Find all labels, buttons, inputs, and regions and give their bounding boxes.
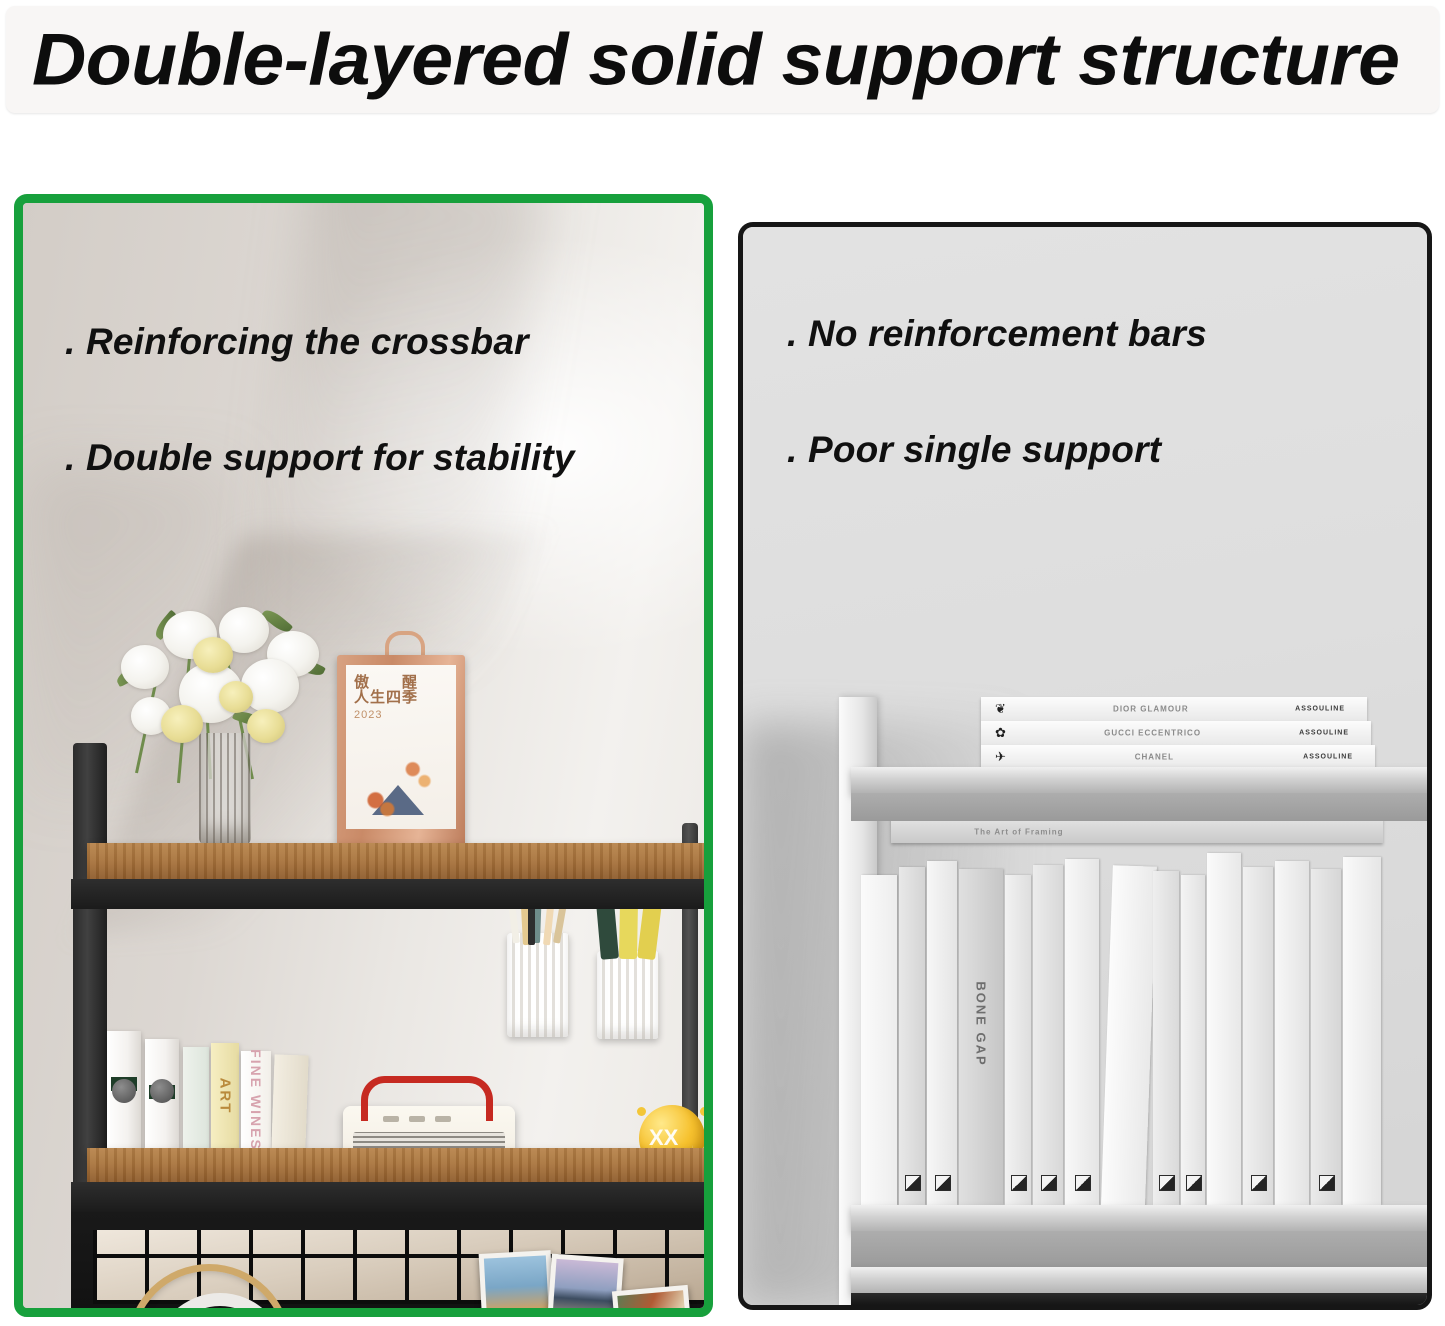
stacked-book: ❦ DIOR GLAMOUR ASSOULINE xyxy=(981,697,1367,721)
marker-holder xyxy=(597,951,659,1039)
book-spine xyxy=(1065,859,1099,1205)
calendar-cjk-line2: 人生四季 xyxy=(354,690,418,705)
crossbar-rail-upper xyxy=(71,879,704,909)
glass-vase xyxy=(199,733,251,845)
book-brand: ASSOULINE xyxy=(1299,730,1349,737)
book-spine xyxy=(1243,867,1273,1205)
figurine-antenna xyxy=(700,1107,704,1116)
shelf-books-row: BONE GAP xyxy=(861,847,1393,1205)
photo-print xyxy=(479,1250,556,1308)
book-title: CHANEL xyxy=(1135,753,1174,762)
book-title: ART xyxy=(217,1078,234,1115)
binder xyxy=(145,1039,179,1149)
book-spine xyxy=(1153,871,1179,1205)
book-title: The Art of Framing xyxy=(974,828,1063,837)
book-spine xyxy=(271,1054,308,1149)
book-spine-fine-wines: FINE WINES xyxy=(241,1051,271,1149)
page-title: Double-layered solid support structure xyxy=(32,18,1399,101)
wire-mesh-grid xyxy=(93,1230,704,1304)
wire-mesh-section xyxy=(71,1212,704,1308)
book-spine xyxy=(183,1047,209,1149)
book-spine-bone-gap: BONE GAP xyxy=(959,869,1003,1205)
book-brand: ASSOULINE xyxy=(1303,754,1353,761)
shelf-upper xyxy=(851,767,1427,793)
book-spine xyxy=(1005,875,1031,1205)
figurine-antenna xyxy=(637,1107,646,1116)
bad-product-panel: ❦ DIOR GLAMOUR ASSOULINE ✿ GUCCI ECCENTR… xyxy=(738,222,1432,1310)
title-banner: Double-layered solid support structure xyxy=(6,6,1439,113)
book-title: FINE WINES xyxy=(248,1049,264,1151)
comparison-panels: 傲 醒 人生四季 2023 xyxy=(0,190,1445,1320)
photo-print xyxy=(612,1285,694,1308)
book-glyph: ✿ xyxy=(995,725,1006,741)
bad-product-photo: ❦ DIOR GLAMOUR ASSOULINE ✿ GUCCI ECCENTR… xyxy=(743,227,1427,1305)
book-spine xyxy=(861,875,897,1205)
binder xyxy=(107,1031,141,1149)
crossbar-rail-lower xyxy=(71,1182,704,1212)
stacked-book: The Art of Framing xyxy=(891,821,1383,843)
book-glyph: ❦ xyxy=(995,701,1006,717)
calendar-cjk-line1: 傲 醒 xyxy=(354,675,418,690)
calendar-year: 2023 xyxy=(354,709,382,721)
book-title: GUCCI ECCENTRICO xyxy=(1104,729,1201,738)
book-brand: ASSOULINE xyxy=(1295,706,1345,713)
book-spine xyxy=(927,861,957,1205)
headphones xyxy=(127,1264,291,1308)
book-spine xyxy=(1275,861,1309,1205)
stacked-book: ✿ GUCCI ECCENTRICO ASSOULINE xyxy=(981,721,1371,745)
book-spine xyxy=(1101,865,1157,1206)
calendar-page: 傲 醒 人生四季 2023 xyxy=(346,665,456,829)
stacked-book: ✈ CHANEL ASSOULINE xyxy=(981,745,1375,769)
cabinet-base xyxy=(851,1293,1427,1305)
book-spine xyxy=(1311,869,1341,1205)
book-glyph: ✈ xyxy=(995,749,1006,765)
book-spine-art: ART xyxy=(211,1043,239,1149)
book-spine xyxy=(1181,875,1205,1205)
book-spine xyxy=(1343,857,1381,1205)
book-spine xyxy=(899,867,925,1205)
shelf-backing xyxy=(851,793,1427,821)
book-title: BONE GAP xyxy=(974,981,989,1066)
wooden-shelf-middle xyxy=(87,1148,704,1182)
book-spine xyxy=(1033,865,1063,1205)
good-product-photo: 傲 醒 人生四季 2023 xyxy=(23,203,704,1308)
pen-holder xyxy=(507,933,569,1037)
good-product-panel: 傲 醒 人生四季 2023 xyxy=(14,194,713,1317)
wooden-shelf-top xyxy=(87,843,704,879)
book-spine xyxy=(1207,853,1241,1205)
book-title: DIOR GLAMOUR xyxy=(1113,705,1189,714)
shelf-backing xyxy=(851,1231,1427,1267)
desk-calendar: 傲 醒 人生四季 2023 xyxy=(337,655,465,847)
radio-handle xyxy=(361,1076,493,1121)
shelf-lower xyxy=(851,1205,1427,1231)
shelf-bottom-rail xyxy=(851,1267,1427,1293)
calendar-illustration xyxy=(352,747,450,821)
